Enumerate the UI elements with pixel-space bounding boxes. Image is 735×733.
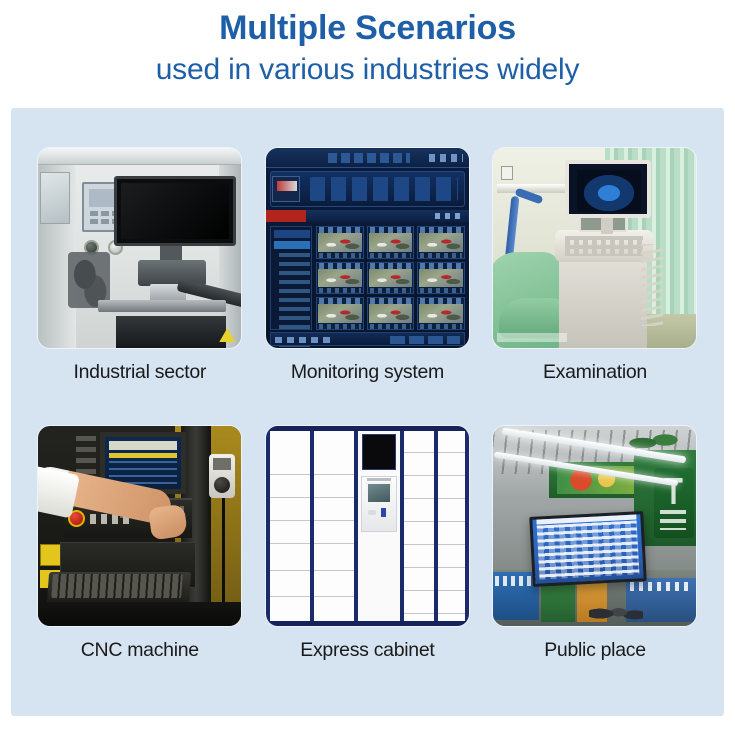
- scenario-cell-industrial-sector: Industrial sector: [26, 148, 254, 384]
- scenario-cell-express-cabinet: Express cabinet: [254, 426, 482, 662]
- scenario-caption: Express cabinet: [254, 639, 482, 662]
- scenarios-panel: Industrial sector: [11, 108, 724, 716]
- page-subtitle: used in various industries widely: [0, 50, 735, 90]
- active-tab-badge: [266, 210, 306, 222]
- cctv-monitoring-software-photo: [266, 148, 469, 348]
- scenario-caption: Public place: [481, 639, 709, 662]
- scenario-cell-monitoring-system: Monitoring system: [254, 148, 482, 384]
- handheld-pendant-icon: [209, 454, 235, 498]
- device-tree-sidebar: [270, 226, 312, 330]
- software-status-bar: [270, 332, 465, 346]
- locker-column: [314, 430, 354, 622]
- machine-lower-panel-shape: [116, 316, 226, 348]
- scenario-cell-cnc-machine: CNC machine: [26, 426, 254, 662]
- camera-feed-tile: [316, 226, 364, 259]
- ultrasound-keyboard-shape: [565, 236, 643, 256]
- software-title-bar: [266, 148, 469, 168]
- scenario-caption: Industrial sector: [26, 361, 254, 384]
- window-controls-icon: [429, 154, 463, 162]
- camera-feed-tile: [367, 226, 415, 259]
- camera-feed-tile: [316, 262, 364, 295]
- machine-top-bar-shape: [38, 148, 241, 165]
- wall-sign-icon: [501, 166, 513, 180]
- sidebar-header-shape: [274, 230, 310, 238]
- cabinet-top-edge-shape: [266, 426, 469, 431]
- pendant-cord-shape: [222, 498, 225, 608]
- machine-monitor-screen: [114, 176, 236, 246]
- board-text-rows-shape: [537, 520, 640, 579]
- scenarios-grid: Industrial sector: [26, 148, 709, 662]
- scenario-caption: Examination: [481, 361, 709, 384]
- scenario-cell-examination: Examination: [481, 148, 709, 384]
- machine-keyboard-tray-shape: [98, 300, 226, 312]
- locker-column: [438, 430, 465, 622]
- tab-bar: [306, 210, 469, 222]
- locker-column: [404, 430, 434, 622]
- title-bar-menu-shape: [328, 153, 410, 163]
- scenario-cell-public-place: Public place: [481, 426, 709, 662]
- camera-feed-tile: [367, 262, 415, 295]
- page-header: Multiple Scenarios used in various indus…: [0, 0, 735, 90]
- express-parcel-locker-photo: [266, 426, 469, 626]
- cabinet-bottom-edge-shape: [266, 621, 469, 626]
- locker-column: [270, 430, 310, 622]
- kiosk-scanner-icon: [381, 508, 386, 517]
- camera-feed-tile: [417, 226, 465, 259]
- probe-cords-shape: [641, 244, 663, 326]
- kiosk-card-slot-icon: [367, 478, 391, 481]
- camera-feed-tile: [417, 297, 465, 330]
- kiosk-button-icon[interactable]: [368, 510, 376, 515]
- toolbar-buttons-shape: [310, 177, 458, 201]
- cnc-keyboard-shape: [51, 574, 183, 598]
- industrial-machine-photo: [38, 148, 241, 348]
- camera-feed-tile: [417, 262, 465, 295]
- information-display-board: [530, 511, 648, 587]
- ultrasound-monitor-screen: [565, 160, 651, 218]
- toolbar-logo-icon: [272, 176, 300, 202]
- camera-feed-tile: [367, 297, 415, 330]
- sidebar-selected-item-shape: [274, 241, 310, 249]
- machine-base-shape: [38, 602, 241, 626]
- medical-ultrasound-room-photo: [493, 148, 696, 348]
- scenario-caption: CNC machine: [26, 639, 254, 662]
- image-watermark: [497, 333, 567, 342]
- kiosk-advertising-screen: [362, 434, 396, 470]
- camera-feed-grid: [316, 226, 465, 330]
- indoor-market-display-photo: [493, 426, 696, 626]
- kiosk-touchscreen[interactable]: [366, 482, 392, 504]
- scenario-caption: Monitoring system: [254, 361, 482, 384]
- cnc-machine-operator-photo: [38, 426, 241, 626]
- camera-feed-tile: [316, 297, 364, 330]
- monitor-pole-shape: [601, 218, 613, 234]
- machine-window-shape: [40, 172, 70, 224]
- page-title: Multiple Scenarios: [0, 6, 735, 50]
- shoppers-shape: [589, 598, 643, 624]
